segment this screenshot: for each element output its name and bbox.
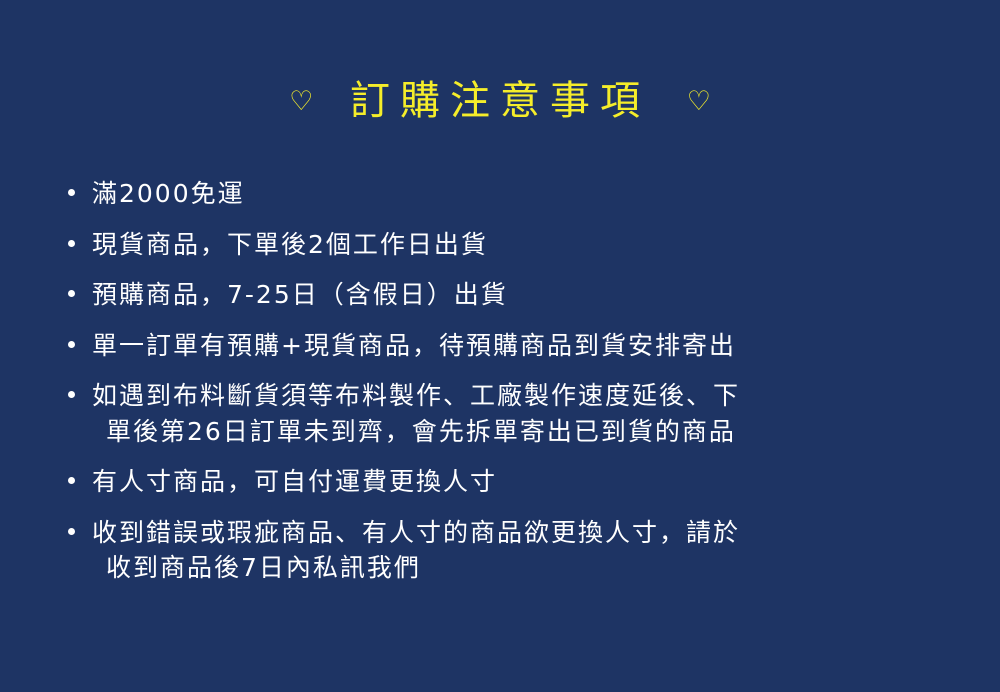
page-title: ♡ 訂購注意事項 ♡	[0, 68, 1000, 126]
bullet-icon	[68, 528, 75, 535]
bullet-icon	[68, 341, 75, 348]
list-item-text: 有人寸商品，可自付運費更換人寸	[92, 467, 497, 496]
list-item-text: 預購商品，7-25日（含假日）出貨	[92, 280, 508, 309]
notice-list: 滿2000免運 現貨商品，下單後2個工作日出貨 預購商品，7-25日（含假日）出…	[62, 176, 962, 601]
notice-page: ♡ 訂購注意事項 ♡ 滿2000免運 現貨商品，下單後2個工作日出貨 預購商品，…	[0, 0, 1000, 692]
list-item: 如遇到布料斷貨須等布料製作、工廠製作速度延後、下 單後第26日訂單未到齊，會先拆…	[62, 378, 962, 449]
bullet-icon	[68, 240, 75, 247]
list-item: 現貨商品，下單後2個工作日出貨	[62, 227, 962, 263]
list-item: 滿2000免運	[62, 176, 962, 212]
list-item-text: 現貨商品，下單後2個工作日出貨	[92, 230, 488, 259]
list-item-text: 滿2000免運	[92, 179, 245, 208]
list-item: 預購商品，7-25日（含假日）出貨	[62, 277, 962, 313]
list-item-text: 單一訂單有預購+現貨商品，待預購商品到貨安排寄出	[92, 331, 736, 360]
bullet-icon	[68, 189, 75, 196]
bullet-icon	[68, 290, 75, 297]
heart-icon-right: ♡	[687, 86, 711, 117]
heart-icon-left: ♡	[289, 86, 313, 117]
page-title-text: 訂購注意事項	[336, 68, 664, 126]
list-item-text: 收到錯誤或瑕疵商品、有人寸的商品欲更換人寸，請於	[92, 518, 740, 547]
list-item: 有人寸商品，可自付運費更換人寸	[62, 464, 962, 500]
bullet-icon	[68, 391, 75, 398]
list-item-text: 如遇到布料斷貨須等布料製作、工廠製作速度延後、下	[92, 381, 740, 410]
bullet-icon	[68, 477, 75, 484]
list-item-text-line2: 單後第26日訂單未到齊，會先拆單寄出已到貨的商品	[92, 414, 962, 450]
list-item: 收到錯誤或瑕疵商品、有人寸的商品欲更換人寸，請於 收到商品後7日內私訊我們	[62, 515, 962, 586]
list-item-text-line2: 收到商品後7日內私訊我們	[92, 550, 962, 586]
list-item: 單一訂單有預購+現貨商品，待預購商品到貨安排寄出	[62, 328, 962, 364]
